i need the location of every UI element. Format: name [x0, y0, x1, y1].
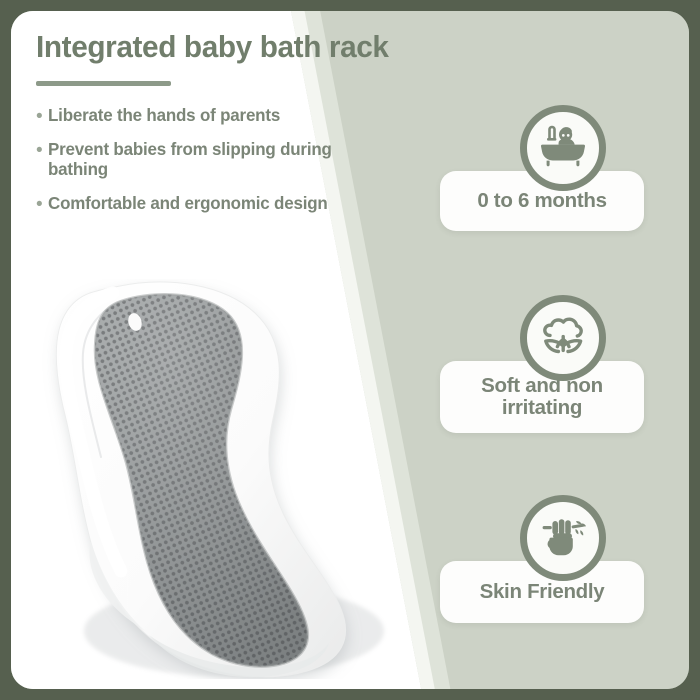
badge-label: Skin Friendly	[474, 581, 611, 603]
baby-bath-rack-product-photo	[29, 279, 429, 679]
feature-badge-column: 0 to 6 months	[436, 11, 689, 689]
title-underline-rule	[36, 81, 171, 86]
bullet-dot-icon: •	[36, 141, 43, 160]
cotton-flower-icon	[520, 295, 606, 381]
list-item: • Prevent babies from slipping during ba…	[36, 139, 366, 180]
bullet-text: Comfortable and ergonomic design	[48, 193, 328, 214]
feature-bullet-list: • Liberate the hands of parents • Preven…	[36, 105, 366, 214]
bathtub-baby-icon	[520, 105, 606, 191]
badge-label: Soft and non irritating	[475, 375, 609, 419]
infographic-canvas: Integrated baby bath rack • Liberate the…	[0, 0, 700, 700]
bullet-dot-icon: •	[36, 107, 43, 126]
list-item: • Comfortable and ergonomic design	[36, 193, 366, 214]
bullet-dot-icon: •	[36, 195, 43, 214]
bullet-text: Liberate the hands of parents	[48, 105, 280, 126]
left-content-column: Integrated baby bath rack • Liberate the…	[36, 31, 366, 230]
content-card: Integrated baby bath rack • Liberate the…	[11, 11, 689, 689]
fist-wheat-icon	[520, 495, 606, 581]
page-title: Integrated baby bath rack	[36, 31, 353, 64]
list-item: • Liberate the hands of parents	[36, 105, 366, 126]
bullet-text: Prevent babies from slipping during bath…	[48, 139, 357, 180]
badge-label: 0 to 6 months	[471, 190, 612, 212]
